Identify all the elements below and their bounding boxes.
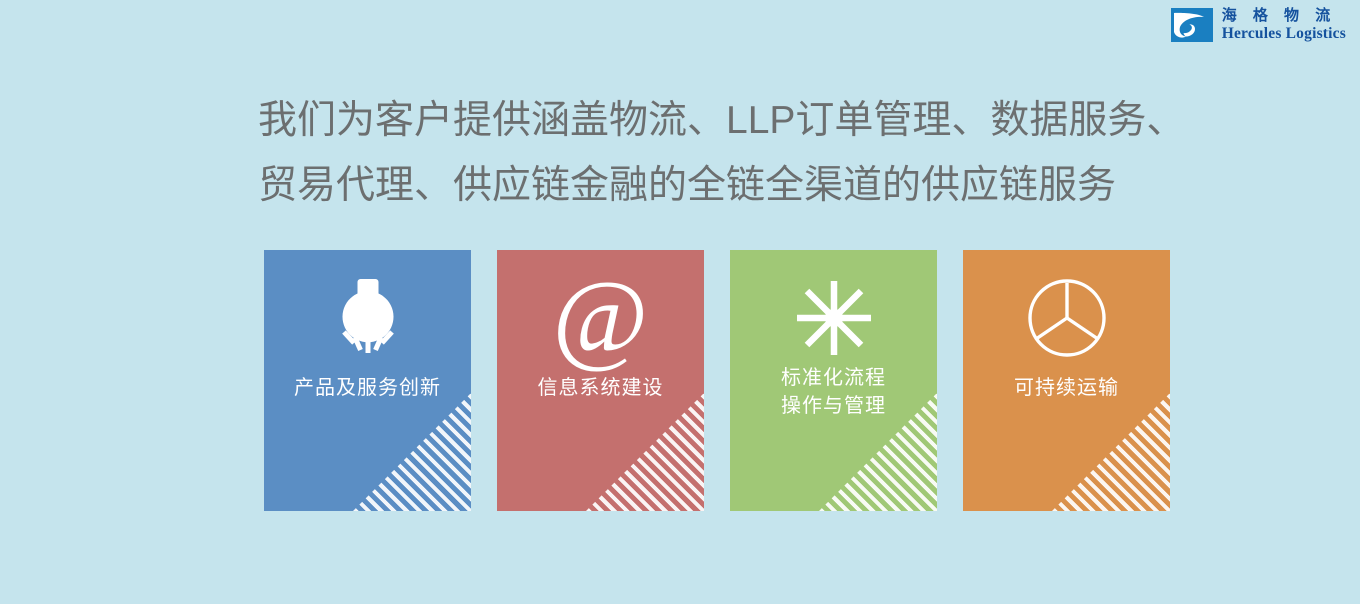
service-card-group: 产品及服务创新 @ 信息系统建设 标准化流程 [264, 250, 1170, 511]
brand-name-cn: 海 格 物 流 [1222, 8, 1346, 26]
brand-logo-text: 海 格 物 流 Hercules Logistics [1222, 8, 1346, 42]
at-sign-glyph: @ [553, 266, 649, 370]
corner-stripe-decoration [1052, 393, 1170, 511]
sustainability-wheel-icon [963, 264, 1170, 372]
corner-stripe-decoration [353, 393, 471, 511]
card-information-system-construction[interactable]: @ 信息系统建设 [497, 250, 704, 511]
at-sign-icon: @ [497, 264, 704, 372]
card-label: 标准化流程 操作与管理 [730, 364, 937, 420]
brand-logo: 海 格 物 流 Hercules Logistics [1171, 8, 1346, 42]
card-label-line-1: 信息系统建设 [497, 374, 704, 402]
card-label-line-2: 操作与管理 [730, 392, 937, 420]
card-label-line-1: 产品及服务创新 [264, 374, 471, 402]
page-title-line-2: 贸易代理、供应链金融的全链全渠道的供应链服务 [258, 153, 1158, 218]
page-title-line-1: 我们为客户提供涵盖物流、LLP订单管理、数据服务、 [258, 88, 1158, 153]
card-standardized-process[interactable]: 标准化流程 操作与管理 [730, 250, 937, 511]
page-title: 我们为客户提供涵盖物流、LLP订单管理、数据服务、 贸易代理、供应链金融的全链全… [258, 88, 1158, 218]
card-label: 信息系统建设 [497, 374, 704, 402]
card-label: 产品及服务创新 [264, 374, 471, 402]
corner-stripe-decoration [586, 393, 704, 511]
brand-name-en: Hercules Logistics [1222, 26, 1346, 42]
card-label-line-1: 可持续运输 [963, 374, 1170, 402]
lightbulb-icon [264, 264, 471, 372]
card-label: 可持续运输 [963, 374, 1170, 402]
card-sustainable-transport[interactable]: 可持续运输 [963, 250, 1170, 511]
asterisk-star-icon [730, 264, 937, 372]
wave-logo-icon [1171, 8, 1213, 42]
card-label-line-1: 标准化流程 [730, 364, 937, 392]
card-product-service-innovation[interactable]: 产品及服务创新 [264, 250, 471, 511]
